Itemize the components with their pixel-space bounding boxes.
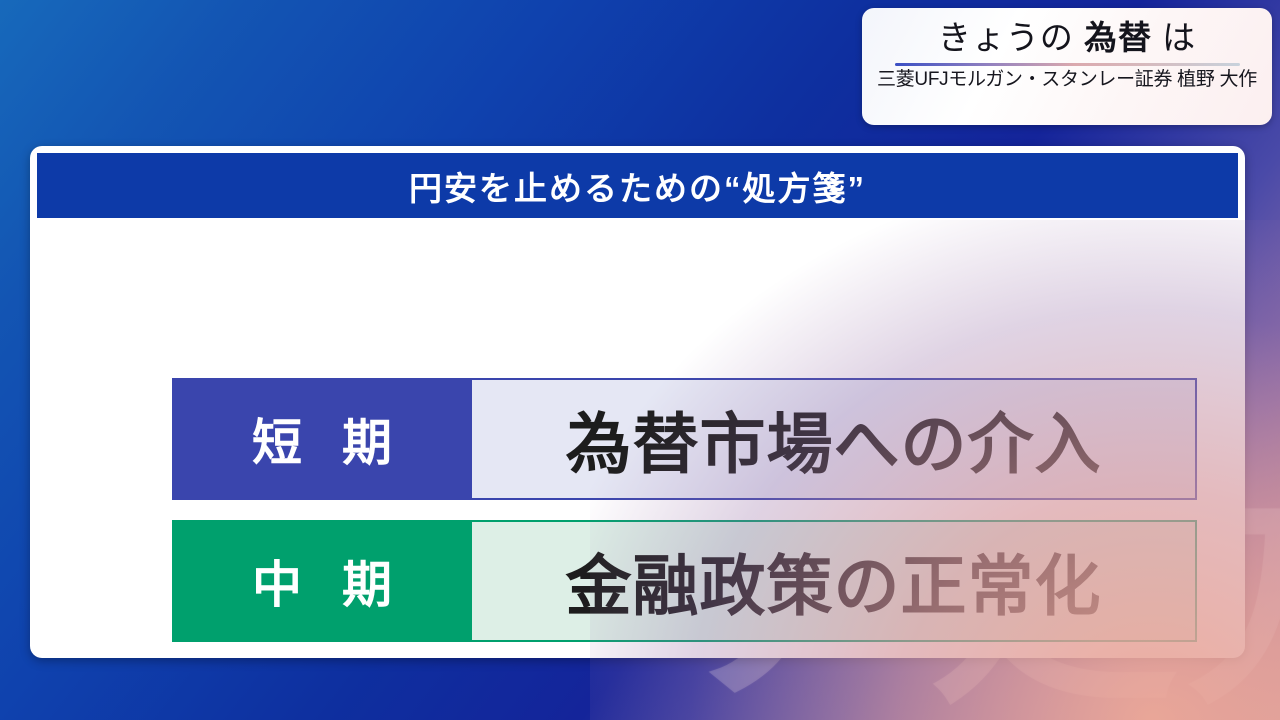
row-term-label: 短 期: [172, 378, 472, 500]
row-term-label: 中 期: [172, 520, 472, 642]
row-measure-text: 金融政策の正常化: [472, 520, 1197, 642]
segment-headline: きょうの 為替 は: [938, 14, 1196, 62]
card-title-bar: 円安を止めるための“処方箋”: [37, 153, 1238, 218]
segment-headline-emphasis: 為替: [1084, 19, 1152, 56]
segment-subtitle: 三菱UFJモルガン・スタンレー証券 植野 大作: [877, 69, 1257, 92]
segment-plate: きょうの 為替 は 三菱UFJモルガン・スタンレー証券 植野 大作: [862, 8, 1272, 125]
row-measure-text: 為替市場への介入: [472, 378, 1197, 500]
broadcast-graphic-stage: ア処方箋 きょうの 為替 は 三菱UFJモルガン・スタンレー証券 植野 大作 円…: [0, 0, 1280, 720]
segment-headline-prefix: きょうの: [938, 19, 1084, 56]
card-title: 円安を止めるための“処方箋”: [409, 162, 866, 210]
prescription-card: 円安を止めるための“処方箋” 短 期 為替市場への介入 中 期 金融政策の正常化…: [30, 146, 1245, 658]
prescription-row: 中 期 金融政策の正常化: [172, 520, 1197, 642]
prescription-row: 短 期 為替市場への介入: [172, 378, 1197, 500]
segment-divider-rule: [895, 63, 1240, 66]
segment-headline-suffix: は: [1152, 19, 1196, 56]
